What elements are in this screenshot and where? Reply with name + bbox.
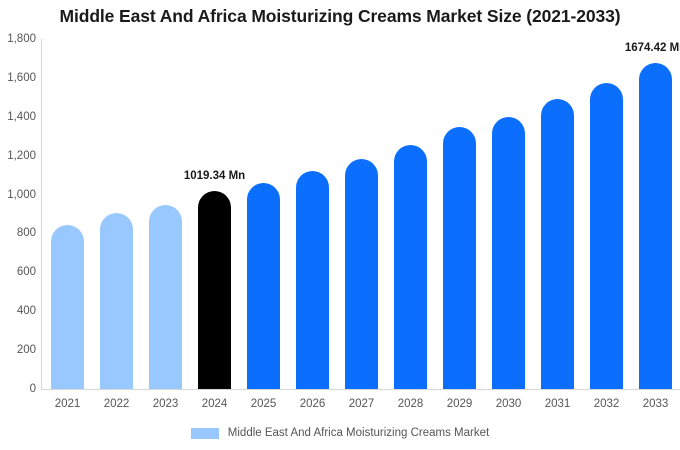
x-axis-tick-label: 2027 [339, 398, 384, 410]
bar-slot [241, 39, 286, 389]
bar-slot [45, 39, 90, 389]
x-axis-tick-label: 2029 [437, 398, 482, 410]
y-axis-tick-label: 1,800 [0, 33, 36, 45]
bar-slot [535, 39, 580, 389]
y-axis-tick-label: 0 [0, 383, 36, 395]
bar-2031[interactable] [541, 99, 574, 389]
x-axis-tick-label: 2021 [45, 398, 90, 410]
bar-slot [192, 39, 237, 389]
bar-2023[interactable] [149, 205, 182, 389]
x-axis-tick-label: 2025 [241, 398, 286, 410]
bar-2021[interactable] [51, 225, 84, 389]
y-axis-tick-label: 1,400 [0, 111, 36, 123]
bar-value-label-2024: 1019.34 Mn [170, 170, 260, 182]
bar-2025[interactable] [247, 183, 280, 389]
bar-2027[interactable] [345, 159, 378, 389]
x-axis-tick-label: 2023 [143, 398, 188, 410]
bar-slot [437, 39, 482, 389]
x-axis-line [41, 389, 680, 390]
chart-container: Middle East And Africa Moisturizing Crea… [0, 0, 680, 450]
y-axis-tick-label: 200 [0, 344, 36, 356]
y-axis-tick-label: 800 [0, 227, 36, 239]
bar-slot [633, 39, 678, 389]
y-axis-tick-label: 1,000 [0, 189, 36, 201]
x-axis-tick-label: 2024 [192, 398, 237, 410]
bar-slot [388, 39, 433, 389]
x-axis-tick-label: 2030 [486, 398, 531, 410]
bar-2022[interactable] [100, 213, 133, 389]
x-axis-tick-label: 2032 [584, 398, 629, 410]
y-axis-tick-label: 1,600 [0, 72, 36, 84]
y-axis-tick-label: 1,200 [0, 150, 36, 162]
legend-label: Middle East And Africa Moisturizing Crea… [228, 427, 489, 439]
bar-slot [339, 39, 384, 389]
x-axis-tick-label: 2028 [388, 398, 433, 410]
bar-slot [486, 39, 531, 389]
chart-title: Middle East And Africa Moisturizing Crea… [0, 6, 680, 27]
bar-2029[interactable] [443, 127, 476, 389]
y-axis-tick-labels: 1,8001,6001,4001,2001,0008006004002000 [0, 0, 36, 450]
y-axis-tick-label: 600 [0, 266, 36, 278]
legend-swatch-icon [191, 428, 219, 439]
x-axis-tick-label: 2026 [290, 398, 335, 410]
x-axis-tick-label: 2033 [633, 398, 678, 410]
bar-2033[interactable] [639, 63, 672, 389]
bar-slot [290, 39, 335, 389]
bar-slot [143, 39, 188, 389]
x-axis-tick-label: 2031 [535, 398, 580, 410]
bar-slot [584, 39, 629, 389]
bar-value-label-2033: 1674.42 Mn [611, 42, 680, 54]
bar-2026[interactable] [296, 171, 329, 389]
bar-2030[interactable] [492, 117, 525, 389]
chart-legend: Middle East And Africa Moisturizing Crea… [0, 427, 680, 439]
y-axis-tick-label: 400 [0, 305, 36, 317]
bar-2032[interactable] [590, 83, 623, 389]
x-axis-tick-label: 2022 [94, 398, 139, 410]
bar-2028[interactable] [394, 145, 427, 389]
bar-slot [94, 39, 139, 389]
bar-2024[interactable] [198, 191, 231, 389]
plot-area [41, 39, 680, 389]
